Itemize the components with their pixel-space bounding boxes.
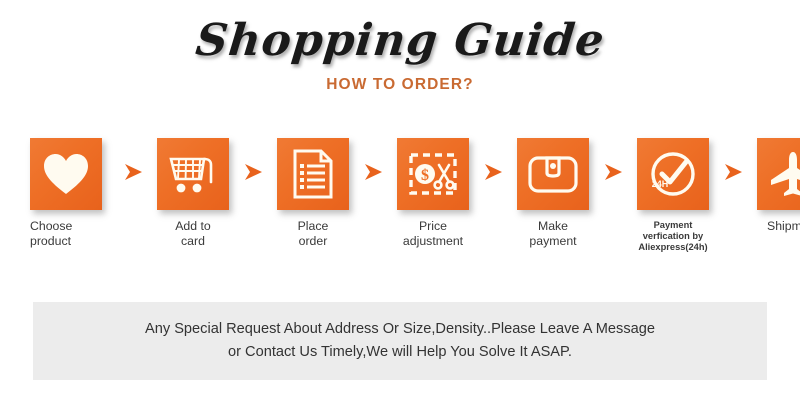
chevron-right-arrow-icon [123,163,143,186]
airplane-icon [768,150,800,198]
wallet-icon [527,153,579,195]
step-shipment: Shipment [750,138,800,234]
step-add-to-card: Add to card [150,138,236,248]
step-icon-box [157,138,229,210]
page-title: Shopping Guide [193,16,607,66]
step-icon-box [277,138,349,210]
flow-arrow-3 [356,138,390,210]
chevron-right-arrow-icon [603,163,623,186]
svg-text:24H: 24H [652,179,669,189]
flow-arrow-2 [236,138,270,210]
chevron-right-arrow-icon [363,163,383,186]
order-steps-flow: Choose product [0,138,800,253]
step-icon-box [757,138,800,210]
step-place-order: Place order [270,138,356,248]
guide-header: Shopping Guide HOW TO ORDER? [0,0,800,94]
step-price-adjustment: $ Price adjustment [390,138,476,248]
step-label: Price adjustment [403,219,463,248]
heart-icon [42,152,90,196]
step-label: Payment verfication by Aliexpress(24h) [638,220,707,253]
step-make-payment: Make payment [510,138,596,248]
flow-arrow-6 [716,138,750,210]
flow-arrow-4 [476,138,510,210]
flow-arrow-5 [596,138,630,210]
flow-arrow-1 [116,138,150,210]
step-icon-box [30,138,102,210]
chevron-right-arrow-icon [483,163,503,186]
note-line-2: or Contact Us Timely,We will Help You So… [228,341,572,364]
document-list-icon [291,149,335,199]
coupon-scissors-icon: $ [408,151,458,197]
check-circle-24h-icon: 24H [648,149,698,199]
step-choose-product: Choose product [30,138,116,248]
step-label: Place order [298,219,329,248]
step-label: Choose product [30,219,72,248]
note-line-1: Any Special Request About Address Or Siz… [145,318,655,341]
step-icon-box [517,138,589,210]
page-subtitle: HOW TO ORDER? [0,76,800,94]
chevron-right-arrow-icon [723,163,743,186]
step-icon-box: 24H [637,138,709,210]
step-label: Add to card [175,219,211,248]
svg-text:$: $ [421,167,429,184]
step-icon-box: $ [397,138,469,210]
shopping-cart-icon [168,151,218,197]
special-request-note-panel: Any Special Request About Address Or Siz… [33,302,767,380]
step-payment-verification: 24H Payment verfication by Aliexpress(24… [630,138,716,253]
step-label: Shipment [767,219,800,234]
chevron-right-arrow-icon [243,163,263,186]
step-label: Make payment [529,219,576,248]
